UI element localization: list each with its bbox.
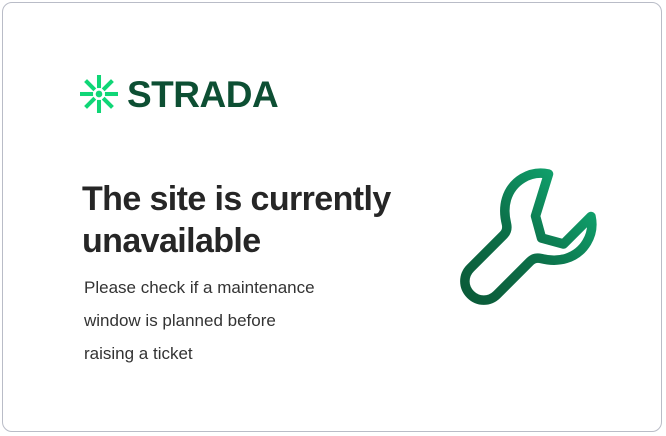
brand-wordmark: STRADA bbox=[127, 76, 278, 113]
asterisk-star-icon bbox=[80, 75, 118, 113]
description-line: raising a ticket bbox=[84, 337, 394, 370]
brand-logo: STRADA bbox=[80, 75, 278, 113]
wrench-icon bbox=[458, 161, 610, 315]
description-line: Please check if a maintenance bbox=[84, 271, 394, 304]
description-line: window is planned before bbox=[84, 304, 394, 337]
page-description: Please check if a maintenance window is … bbox=[84, 271, 394, 370]
page-title: The site is currently unavailable bbox=[82, 178, 412, 262]
status-card: STRADA The site is currently unavailable… bbox=[2, 2, 662, 432]
